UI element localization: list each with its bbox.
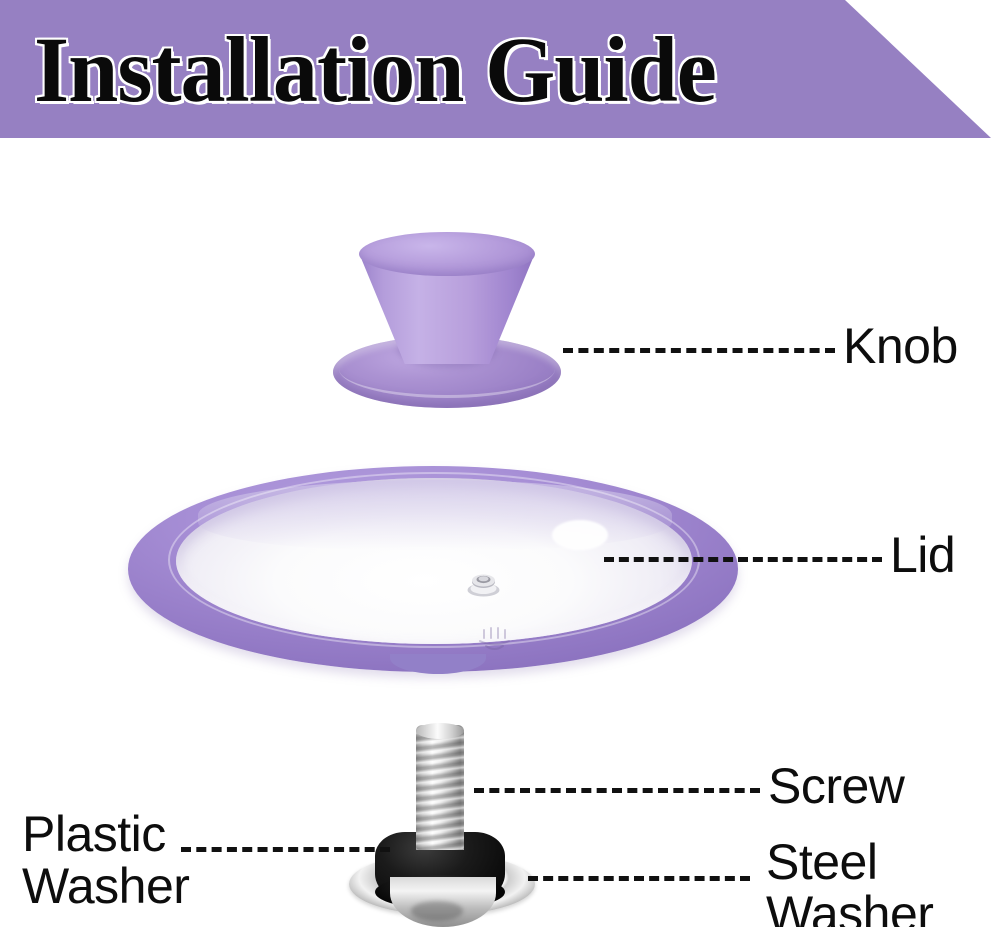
screw-threads (416, 729, 464, 850)
lid-specular-highlight (552, 520, 608, 550)
leader-line-plastic-washer (181, 847, 390, 852)
leader-line-screw (474, 788, 760, 793)
callout-label-screw: Screw (768, 760, 904, 812)
steam-vent-emboss-icon (476, 624, 518, 656)
page-title: Installation Guide (34, 19, 716, 123)
screw-tip (416, 723, 464, 739)
callout-label-knob: Knob (843, 320, 958, 372)
callout-label-steel-washer: Steel Washer (766, 836, 933, 927)
lid-center-nut-icon (467, 571, 500, 597)
installation-guide-page: Installation Guide (0, 0, 997, 927)
leader-line-steel-washer (528, 876, 750, 881)
knob-part (325, 232, 570, 412)
callout-label-plastic-washer: Plastic Washer (22, 808, 189, 912)
leader-line-lid (604, 557, 882, 562)
steel-washer-shadow (411, 901, 463, 921)
knob-top-cap (359, 232, 535, 276)
screw-assembly (345, 725, 560, 927)
leader-line-knob (563, 348, 835, 353)
callout-label-lid: Lid (890, 529, 955, 581)
lid-part (128, 466, 738, 682)
